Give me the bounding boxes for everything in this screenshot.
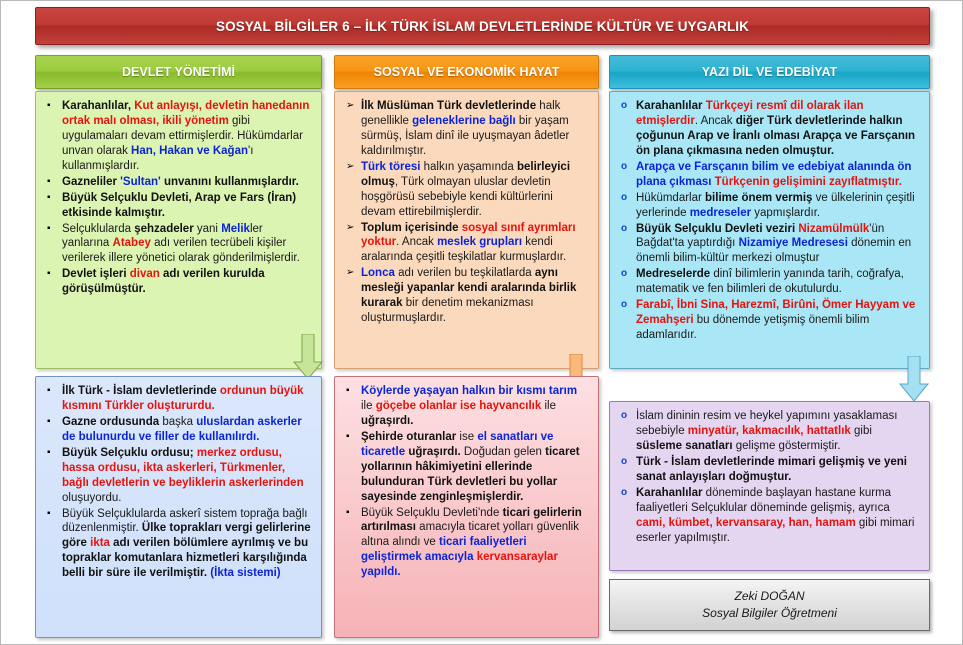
circle-bullet-icon: o	[621, 191, 627, 206]
list-item-text: Lonca adı verilen bu teşkilatlarda aynı …	[361, 267, 576, 324]
list-item: oKarahanlılar döneminde başlayan hastane…	[619, 486, 920, 546]
square-bullet-icon: ▪	[47, 222, 51, 237]
list-item-text: Hükümdarlar bilime önem vermiş ve ülkele…	[636, 192, 915, 219]
arrow-bullet-icon: ➢	[346, 99, 354, 114]
list-item: oHükümdarlar bilime önem vermiş ve ülkel…	[619, 191, 920, 221]
list-item: ▪Devlet işleri divan adı verilen kurulda…	[45, 267, 312, 297]
list-item-text: Toplum içerisinde sosyal sınıf ayrımları…	[361, 222, 576, 264]
list-item-text: Şehirde oturanlar ise el sanatları ve ti…	[361, 431, 580, 503]
list-item-text: İslam dininin resim ve heykel yapımını y…	[636, 410, 897, 452]
panel-ekonomik-faaliyetler: ▪Köylerde yaşayan halkın bir kısmı tarım…	[334, 376, 599, 638]
list-item: ▪Büyük Selçuklu ordusu; merkez ordusu, h…	[45, 446, 312, 506]
column-header-label: DEVLET YÖNETİMİ	[122, 65, 235, 79]
green-down-arrow-icon	[293, 334, 323, 380]
list-item: ▪Şehirde oturanlar ise el sanatları ve t…	[344, 430, 589, 505]
square-bullet-icon: ▪	[346, 384, 350, 399]
list-item: ▪Büyük Selçuklularda askerî sistem topra…	[45, 507, 312, 582]
panel-devlet-yonetimi: ▪Karahanlılar, Kut anlayışı, devletin ha…	[35, 91, 322, 369]
circle-bullet-icon: o	[621, 99, 627, 114]
circle-bullet-icon: o	[621, 267, 627, 282]
list-item-text: Karahanlılar, Kut anlayışı, devletin han…	[62, 100, 309, 172]
bullet-list: ➢İlk Müslüman Türk devletlerinde halk ge…	[344, 99, 589, 326]
square-bullet-icon: ▪	[47, 384, 51, 399]
square-bullet-icon: ▪	[47, 191, 51, 206]
author-signature-box: Zeki DOĞAN Sosyal Bilgiler Öğretmeni	[609, 579, 930, 631]
bullet-list: ▪İlk Türk - İslam devletlerinde ordunun …	[45, 384, 312, 581]
list-item: ➢Toplum içerisinde sosyal sınıf ayrımlar…	[344, 221, 589, 266]
arrow-bullet-icon: ➢	[346, 160, 354, 175]
bullet-list: ▪Karahanlılar, Kut anlayışı, devletin ha…	[45, 99, 312, 297]
column-header-yazi-dil-ve-edebiyat: YAZI DİL VE EDEBİYAT	[609, 55, 930, 89]
square-bullet-icon: ▪	[47, 267, 51, 282]
infographic-page: SOSYAL BİLGİLER 6 – İLK TÜRK İSLAM DEVLE…	[0, 0, 963, 645]
list-item: oBüyük Selçuklu Devleti veziri Nizamülmü…	[619, 222, 920, 267]
square-bullet-icon: ▪	[47, 99, 51, 114]
bullet-list: oKarahanlılar Türkçeyi resmî dil olarak …	[619, 99, 920, 343]
square-bullet-icon: ▪	[47, 175, 51, 190]
list-item: ▪İlk Türk - İslam devletlerinde ordunun …	[45, 384, 312, 414]
list-item-text: Gazne ordusunda başka uluslardan askerle…	[62, 416, 302, 443]
author-role: Sosyal Bilgiler Öğretmeni	[702, 605, 837, 622]
list-item: oKarahanlılar Türkçeyi resmî dil olarak …	[619, 99, 920, 159]
circle-bullet-icon: o	[621, 298, 627, 313]
column-header-devlet-yonetimi: DEVLET YÖNETİMİ	[35, 55, 322, 89]
panel-sosyal-ve-ekonomik-hayat: ➢İlk Müslüman Türk devletlerinde halk ge…	[334, 91, 599, 369]
square-bullet-icon: ▪	[346, 430, 350, 445]
list-item-text: İlk Türk - İslam devletlerinde ordunun b…	[62, 385, 304, 412]
list-item-text: Karahanlılar döneminde başlayan hastane …	[636, 487, 914, 544]
list-item-text: Devlet işleri divan adı verilen kurulda …	[62, 268, 265, 295]
page-title: SOSYAL BİLGİLER 6 – İLK TÜRK İSLAM DEVLE…	[216, 19, 749, 34]
list-item: oFarabî, İbni Sina, Harezmî, Birûni, Öme…	[619, 298, 920, 343]
list-item: ▪Büyük Selçuklu Devleti, Arap ve Fars (İ…	[45, 191, 312, 221]
column-header-label: SOSYAL VE EKONOMİK HAYAT	[374, 65, 560, 79]
column-header-sosyal-ve-ekonomik-hayat: SOSYAL VE EKONOMİK HAYAT	[334, 55, 599, 89]
circle-bullet-icon: o	[621, 486, 627, 501]
list-item-text: Büyük Selçuklu Devleti veziri Nizamülmül…	[636, 223, 911, 265]
list-item-text: Türk töresi halkın yaşamında belirleyici…	[361, 161, 570, 218]
list-item: oMedreselerde dinî bilimlerin yanında ta…	[619, 267, 920, 297]
circle-bullet-icon: o	[621, 222, 627, 237]
list-item-text: Selçuklularda şehzadeler yani Melikler y…	[62, 223, 300, 265]
list-item-text: Türk - İslam devletlerinde mimari gelişm…	[636, 456, 907, 483]
author-name: Zeki DOĞAN	[734, 588, 804, 605]
list-item-text: Farabî, İbni Sina, Harezmî, Birûni, Ömer…	[636, 299, 915, 341]
list-item-text: Büyük Selçuklu Devleti'nde ticari gelirl…	[361, 507, 582, 579]
list-item: ➢İlk Müslüman Türk devletlerinde halk ge…	[344, 99, 589, 159]
bullet-list: oİslam dininin resim ve heykel yapımını …	[619, 409, 920, 545]
column-header-label: YAZI DİL VE EDEBİYAT	[702, 65, 837, 79]
page-title-banner: SOSYAL BİLGİLER 6 – İLK TÜRK İSLAM DEVLE…	[35, 7, 930, 45]
list-item: oTürk - İslam devletlerinde mimari geliş…	[619, 455, 920, 485]
arrow-bullet-icon: ➢	[346, 221, 354, 236]
list-item-text: Büyük Selçuklu Devleti, Arap ve Fars (İr…	[62, 192, 296, 219]
blue-down-arrow-icon	[899, 356, 929, 402]
circle-bullet-icon: o	[621, 409, 627, 424]
list-item: ▪Selçuklularda şehzadeler yani Melikler …	[45, 222, 312, 267]
list-item: ▪Gazne ordusunda başka uluslardan askerl…	[45, 415, 312, 445]
list-item: ▪Gazneliler 'Sultan' unvanını kullanmışl…	[45, 175, 312, 190]
square-bullet-icon: ▪	[47, 507, 51, 522]
circle-bullet-icon: o	[621, 455, 627, 470]
square-bullet-icon: ▪	[47, 415, 51, 430]
circle-bullet-icon: o	[621, 160, 627, 175]
square-bullet-icon: ▪	[346, 506, 350, 521]
panel-yazi-dil-ve-edebiyat: oKarahanlılar Türkçeyi resmî dil olarak …	[609, 91, 930, 369]
bullet-list: ▪Köylerde yaşayan halkın bir kısmı tarım…	[344, 384, 589, 580]
list-item: oArapça ve Farsçanın bilim ve edebiyat a…	[619, 160, 920, 190]
list-item: ▪Köylerde yaşayan halkın bir kısmı tarım…	[344, 384, 589, 429]
list-item: ▪Büyük Selçuklu Devleti'nde ticari gelir…	[344, 506, 589, 581]
panel-ordu-ve-askeri-sistem: ▪İlk Türk - İslam devletlerinde ordunun …	[35, 376, 322, 638]
list-item-text: Köylerde yaşayan halkın bir kısmı tarım …	[361, 385, 577, 427]
square-bullet-icon: ▪	[47, 446, 51, 461]
list-item-text: Büyük Selçuklularda askerî sistem toprağ…	[62, 508, 311, 580]
list-item-text: Arapça ve Farsçanın bilim ve edebiyat al…	[636, 161, 911, 188]
list-item: ➢Lonca adı verilen bu teşkilatlarda aynı…	[344, 266, 589, 326]
list-item-text: Karahanlılar Türkçeyi resmî dil olarak i…	[636, 100, 915, 157]
list-item-text: Medreselerde dinî bilimlerin yanında tar…	[636, 268, 904, 295]
list-item-text: İlk Müslüman Türk devletlerinde halk gen…	[361, 100, 569, 157]
list-item: oİslam dininin resim ve heykel yapımını …	[619, 409, 920, 454]
list-item-text: Gazneliler 'Sultan' unvanını kullanmışla…	[62, 176, 299, 188]
list-item: ▪Karahanlılar, Kut anlayışı, devletin ha…	[45, 99, 312, 174]
list-item-text: Büyük Selçuklu ordusu; merkez ordusu, ha…	[62, 447, 304, 504]
list-item: ➢Türk töresi halkın yaşamında belirleyic…	[344, 160, 589, 220]
panel-sanat-ve-mimari: oİslam dininin resim ve heykel yapımını …	[609, 401, 930, 571]
arrow-bullet-icon: ➢	[346, 266, 354, 281]
